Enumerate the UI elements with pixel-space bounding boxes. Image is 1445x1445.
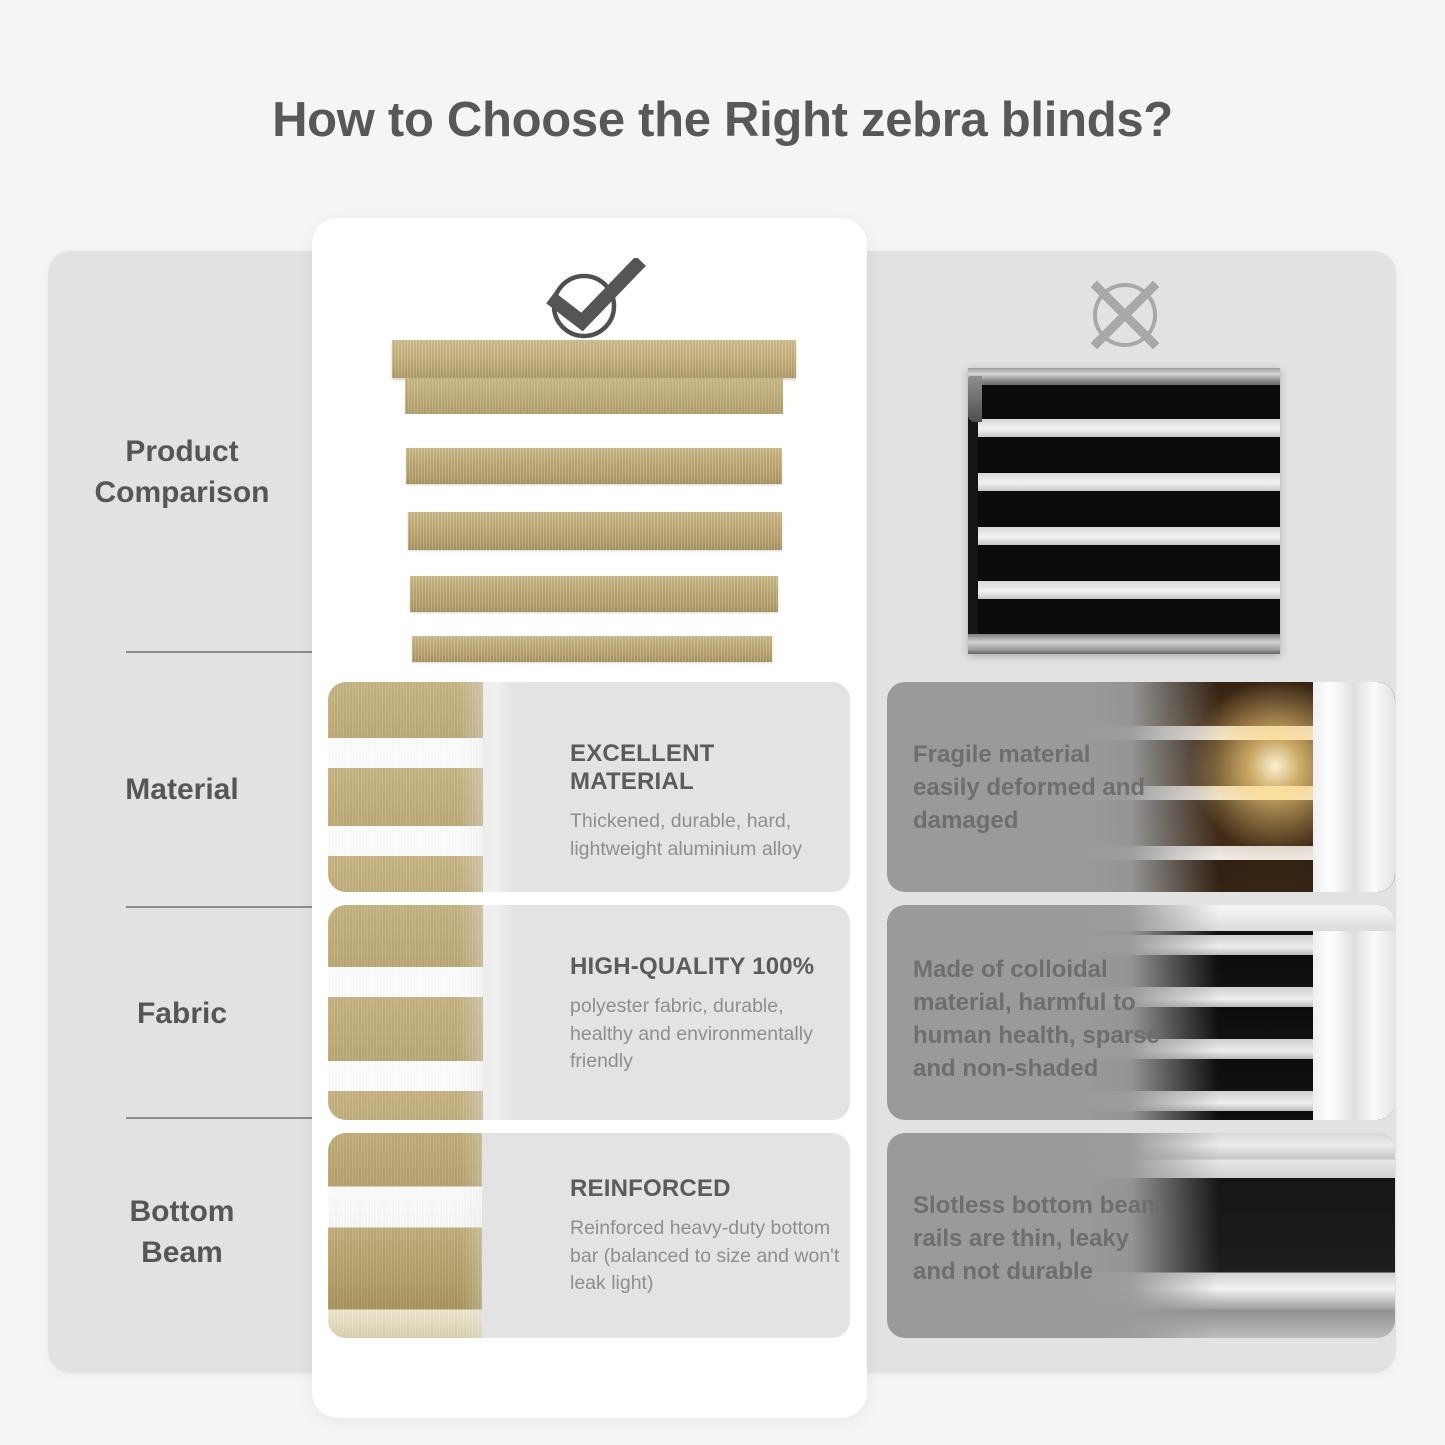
- good-title-material: EXCELLENT MATERIAL: [570, 740, 838, 796]
- row-label-bottom-beam: BottomBeam: [48, 1191, 316, 1274]
- good-card-bottom-beam: REINFORCED Reinforced heavy-duty bottom …: [328, 1133, 850, 1338]
- bad-card-fabric: Made of colloidal material, harmful to h…: [887, 905, 1395, 1120]
- blind-body: [978, 385, 1280, 634]
- bad-text-material: Fragile material easily deformed and dam…: [913, 738, 1163, 837]
- divider-2: [126, 906, 316, 908]
- row-label-column: Product Comparison Material Fabric Botto…: [48, 251, 316, 1373]
- check-circle-icon: [540, 258, 650, 342]
- divider-3: [126, 1117, 316, 1119]
- good-photo-bottom-beam: [328, 1133, 568, 1338]
- good-desc-bottom-beam: Reinforced heavy-duty bottom bar (balanc…: [570, 1215, 842, 1298]
- good-text-material: EXCELLENT MATERIAL Thickened, durable, h…: [570, 740, 838, 863]
- rejected-product-image: [968, 368, 1280, 654]
- divider-1: [126, 651, 316, 653]
- bad-text-bottom-beam: Slotless bottom beam rails are thin, lea…: [913, 1189, 1175, 1288]
- headrail-fabric: [405, 378, 783, 414]
- good-desc-material: Thickened, durable, hard, lightweight al…: [570, 808, 838, 863]
- good-text-fabric: HIGH-QUALITY 100% polyester fabric, dura…: [570, 953, 842, 1076]
- good-card-material: EXCELLENT MATERIAL Thickened, durable, h…: [328, 682, 850, 892]
- blind-side-cap: [968, 376, 982, 422]
- good-title-fabric: HIGH-QUALITY 100%: [570, 953, 842, 981]
- blind-slat: [406, 448, 782, 484]
- blind-top-rail: [968, 368, 1280, 385]
- photo-fade: [328, 1133, 568, 1338]
- row-label-product-comparison: Product Comparison: [48, 431, 316, 514]
- row-label-fabric: Fabric: [48, 993, 316, 1034]
- page-title: How to Choose the Right zebra blinds?: [0, 92, 1445, 148]
- bad-card-bottom-beam: Slotless bottom beam rails are thin, lea…: [887, 1133, 1395, 1338]
- good-text-bottom-beam: REINFORCED Reinforced heavy-duty bottom …: [570, 1175, 842, 1298]
- good-photo-fabric: [328, 905, 563, 1120]
- good-photo-material: [328, 682, 563, 892]
- x-circle-icon: [1085, 275, 1165, 355]
- good-card-fabric: HIGH-QUALITY 100% polyester fabric, dura…: [328, 905, 850, 1120]
- good-desc-fabric: polyester fabric, durable, healthy and e…: [570, 993, 842, 1076]
- blind-bottom-rail: [968, 634, 1280, 654]
- photo-fade: [328, 682, 563, 892]
- blind-slat: [408, 512, 782, 550]
- photo-fade: [328, 905, 563, 1120]
- good-title-bottom-beam: REINFORCED: [570, 1175, 842, 1203]
- row-label-material: Material: [48, 769, 316, 810]
- blind-slat: [410, 576, 778, 612]
- infographic-root: How to Choose the Right zebra blinds? Pr…: [0, 0, 1445, 1445]
- headrail: [392, 340, 796, 378]
- bad-text-fabric: Made of colloidal material, harmful to h…: [913, 953, 1173, 1085]
- blind-bottom-bar: [412, 636, 772, 662]
- recommended-product-image: [392, 340, 796, 668]
- bad-card-material: Fragile material easily deformed and dam…: [887, 682, 1395, 892]
